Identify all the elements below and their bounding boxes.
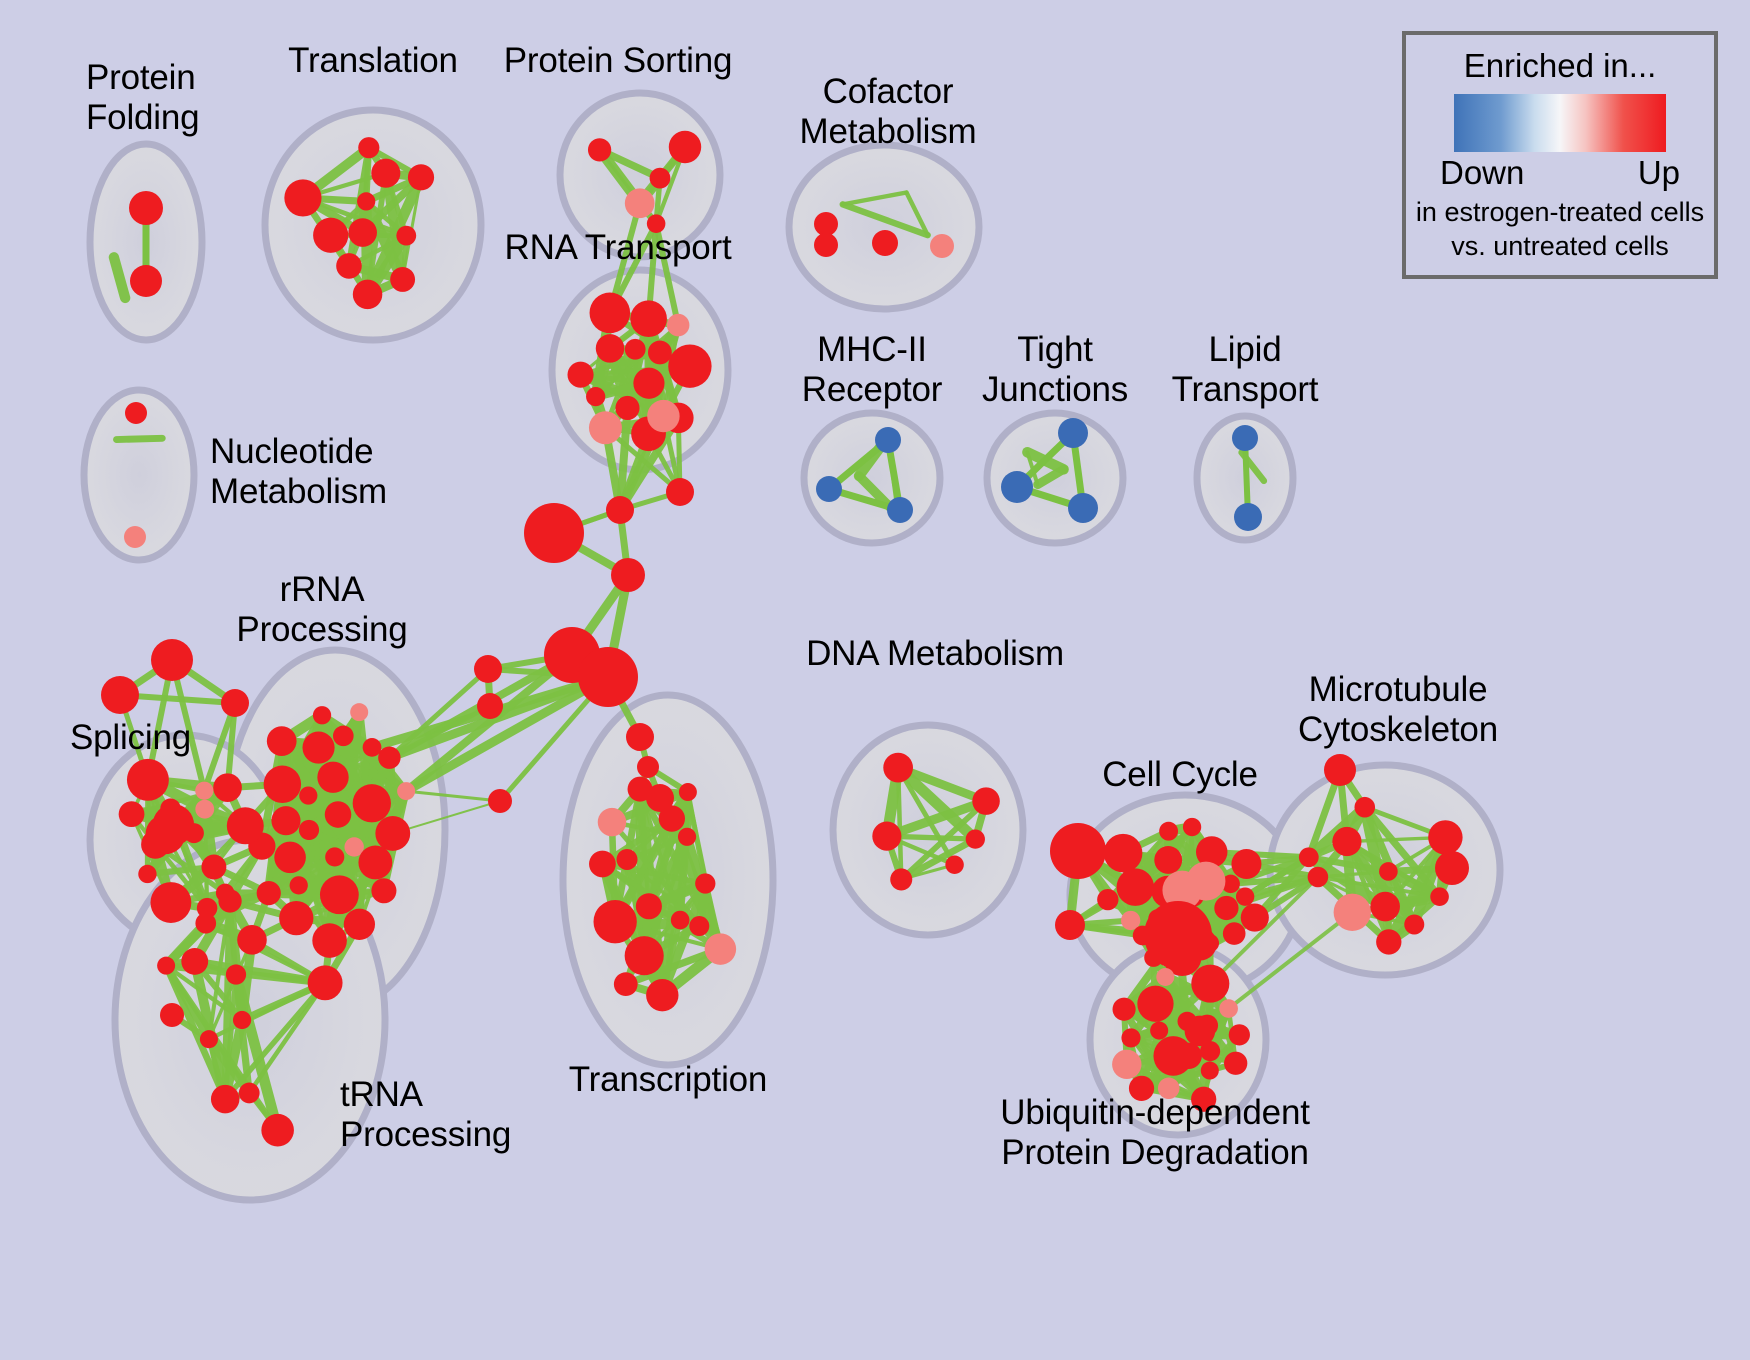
network-node-translation — [390, 267, 415, 292]
network-node-rrna-processing — [371, 878, 396, 903]
network-node-dna-metabolism — [872, 822, 901, 851]
network-node-dna-metabolism — [972, 787, 1000, 815]
network-node-transcription — [689, 916, 709, 936]
network-node-trna-processing — [218, 889, 241, 912]
network-node-trna-processing — [226, 964, 246, 984]
network-node-trna-processing — [261, 1114, 294, 1147]
network-node-rrna-processing — [320, 875, 359, 914]
network-node-trna-processing — [239, 1083, 260, 1104]
network-node-cell-cycle — [1183, 818, 1201, 836]
legend-up-label: Up — [1638, 154, 1680, 192]
cluster-label-ubiquitin-degradation: Ubiquitin-dependent Protein Degradation — [1000, 1093, 1310, 1173]
network-node-splicing — [213, 773, 242, 802]
network-node-trna-processing — [211, 1085, 239, 1113]
network-node-cell-cycle — [1241, 904, 1269, 932]
network-node-translation — [336, 253, 362, 279]
network-node-spl-b — [101, 676, 139, 714]
network-node-rna-transport — [633, 368, 664, 399]
network-node-ubiquitin-degradation — [1112, 1050, 1141, 1079]
network-node-trna-processing — [308, 965, 343, 1000]
network-node-cell-cycle — [1097, 889, 1118, 910]
network-node-rrna-processing — [290, 876, 308, 894]
cluster-hull-dna-metabolism — [833, 725, 1023, 935]
network-node-ubiquitin-degradation — [1229, 1024, 1250, 1045]
network-node-trna-processing — [200, 1030, 218, 1048]
network-node-cofactor-metabolism — [930, 234, 954, 258]
network-node-trna-processing — [233, 1011, 251, 1029]
network-figure: Protein FoldingTranslationProtein Sortin… — [0, 0, 1750, 1360]
network-node-rrna-processing — [363, 738, 382, 757]
network-node-rrna-processing — [378, 746, 400, 768]
network-node-rrna-processing — [353, 784, 391, 822]
network-node-cell-cycle — [1214, 896, 1238, 920]
cluster-label-dna-metabolism: DNA Metabolism — [806, 634, 1064, 674]
network-node-rrna-processing — [358, 846, 392, 880]
cluster-label-splicing: Splicing — [70, 718, 191, 758]
network-node-transcription — [594, 900, 637, 943]
network-node-cell-cycle — [1236, 887, 1254, 905]
network-node-splicing — [138, 865, 156, 883]
network-node-ubiquitin-degradation — [1219, 999, 1238, 1018]
network-node-splicing — [227, 807, 264, 844]
legend-box: Enriched in... Down Up in estrogen-treat… — [1402, 31, 1718, 279]
network-node-rna-transport — [586, 387, 605, 406]
legend-down-label: Down — [1440, 154, 1524, 192]
network-node-ubiquitin-degradation — [1156, 968, 1174, 986]
network-edge — [898, 768, 901, 880]
cluster-label-rrna-processing: rRNA Processing — [236, 570, 407, 650]
network-node-rrna-processing — [299, 786, 317, 804]
network-node-rna-transport — [647, 400, 679, 432]
network-node-spl-a — [151, 639, 193, 681]
network-node-dna-metabolism — [890, 868, 912, 890]
network-node-ubiquitin-degradation — [1185, 1016, 1216, 1047]
network-node-rrna-processing — [264, 766, 301, 803]
network-node-transcription — [617, 849, 638, 870]
cluster-label-rna-transport: RNA Transport — [505, 228, 732, 268]
network-node-transcription — [589, 851, 616, 878]
network-node-microtubule-cytoskeleton — [1404, 914, 1424, 934]
network-node-protein-folding — [129, 191, 163, 225]
network-node-ubiquitin-degradation — [1176, 1043, 1202, 1069]
network-node-transcription — [646, 979, 678, 1011]
network-node-mt-hi — [1324, 754, 1356, 786]
network-node-rrna-processing — [375, 816, 410, 851]
network-node-cc-l — [1050, 823, 1106, 879]
network-node-microtubule-cytoskeleton — [1334, 894, 1371, 931]
network-node-mhc-ii-receptor — [875, 427, 901, 453]
network-node-microtubule-cytoskeleton — [1332, 827, 1361, 856]
cluster-label-cell-cycle: Cell Cycle — [1102, 755, 1258, 795]
network-node-mhc-ii-receptor — [816, 476, 842, 502]
cluster-label-mhc-ii-receptor: MHC-II Receptor — [802, 330, 942, 410]
network-node-hub-1 — [606, 496, 634, 524]
network-node-rna-transport — [567, 362, 593, 388]
network-node-rna-transport — [590, 293, 631, 334]
network-node-microtubule-cytoskeleton — [1430, 887, 1449, 906]
network-node-microtubule-cytoskeleton — [1370, 892, 1400, 922]
cluster-label-protein-folding: Protein Folding — [86, 58, 199, 138]
network-node-protein-sorting — [650, 168, 671, 189]
network-node-tight-junctions — [1068, 493, 1098, 523]
network-node-rrna-processing — [344, 909, 375, 940]
network-node-hub-4 — [611, 558, 645, 592]
legend-title: Enriched in... — [1406, 47, 1714, 85]
network-node-ubiquitin-degradation — [1121, 1028, 1140, 1047]
network-node-cell-cycle — [1159, 822, 1178, 841]
network-node-rna-transport — [596, 334, 625, 363]
network-node-transcription — [671, 911, 690, 930]
network-node-rrna-processing — [313, 706, 331, 724]
network-node-splicing — [195, 800, 214, 819]
network-node-splicing — [201, 855, 226, 880]
legend-endpoints: Down Up — [1442, 154, 1678, 194]
network-node-cell-cycle — [1231, 849, 1261, 879]
network-node-tight-junctions — [1058, 418, 1088, 448]
network-node-protein-sorting — [669, 131, 701, 163]
network-node-hub-10 — [637, 756, 659, 778]
cluster-label-protein-sorting: Protein Sorting — [504, 41, 733, 81]
network-node-rrna-processing — [271, 806, 300, 835]
network-node-splicing — [146, 814, 186, 854]
network-node-transcription — [678, 828, 696, 846]
network-node-tr-out — [160, 1003, 184, 1027]
network-node-cc-l2 — [1055, 910, 1085, 940]
network-node-rrna-processing — [397, 782, 415, 800]
network-node-translation — [313, 218, 348, 253]
network-node-protein-folding — [130, 265, 162, 297]
network-node-lipid-transport — [1234, 503, 1262, 531]
network-node-hub-11 — [646, 784, 674, 812]
cluster-label-tight-junctions: Tight Junctions — [982, 330, 1128, 410]
network-node-transcription — [705, 933, 737, 965]
network-node-splicing — [119, 801, 145, 827]
network-node-translation — [371, 159, 400, 188]
network-node-tight-junctions — [1001, 471, 1033, 503]
network-node-spl-c — [221, 689, 249, 717]
network-node-microtubule-cytoskeleton — [1376, 929, 1401, 954]
network-node-rrna-processing — [317, 762, 348, 793]
network-node-transcription — [695, 873, 715, 893]
network-node-cell-cycle — [1186, 862, 1225, 901]
network-node-hub-12 — [488, 789, 512, 813]
cluster-label-microtubule-cytoskeleton: Microtubule Cytoskeleton — [1298, 670, 1498, 750]
network-node-trna-processing — [157, 957, 175, 975]
legend-colorbar — [1454, 94, 1666, 152]
network-node-trna-processing — [195, 913, 216, 934]
network-node-dna-metabolism — [883, 753, 913, 783]
network-node-rrna-processing — [267, 726, 297, 756]
network-node-rrna-processing — [274, 842, 306, 874]
network-node-cofactor-metabolism — [814, 212, 838, 236]
network-node-dna-metabolism — [945, 856, 963, 874]
network-node-rrna-processing — [299, 820, 319, 840]
network-node-hub-6 — [578, 647, 638, 707]
network-node-rrna-processing — [257, 881, 281, 905]
network-node-transcription — [636, 893, 662, 919]
network-node-rrna-processing — [325, 801, 352, 828]
network-node-translation — [408, 164, 434, 190]
network-node-cell-cycle — [1117, 868, 1155, 906]
network-node-rna-transport — [630, 300, 667, 337]
network-node-transcription — [679, 783, 697, 801]
network-node-translation — [348, 218, 377, 247]
network-node-protein-sorting — [588, 138, 611, 161]
network-edge — [116, 438, 162, 439]
network-node-translation — [353, 280, 383, 310]
network-node-rna-transport — [625, 339, 646, 360]
cluster-label-trna-processing: tRNA Processing — [340, 1075, 511, 1155]
network-node-microtubule-cytoskeleton — [1379, 862, 1398, 881]
cluster-label-lipid-transport: Lipid Transport — [1172, 330, 1319, 410]
cluster-label-cofactor-metabolism: Cofactor Metabolism — [800, 72, 977, 152]
cluster-label-translation: Translation — [288, 41, 458, 81]
network-node-rna-transport — [615, 396, 639, 420]
network-node-microtubule-cytoskeleton — [1428, 820, 1462, 854]
network-node-dna-metabolism — [966, 829, 985, 848]
network-node-mt-r — [1435, 851, 1469, 885]
network-node-rna-transport — [668, 344, 711, 387]
legend-caption-line1: in estrogen-treated cells — [1406, 197, 1714, 228]
network-node-rna-transport — [648, 341, 672, 365]
network-node-splicing — [195, 782, 213, 800]
network-node-cofactor-metabolism — [814, 233, 838, 257]
network-node-nucleotide-metabolism — [125, 402, 147, 424]
network-node-translation — [284, 179, 321, 216]
cluster-label-transcription: Transcription — [569, 1060, 767, 1100]
network-node-protein-sorting — [625, 188, 655, 218]
network-node-translation — [357, 192, 375, 210]
network-node-mhc-ii-receptor — [887, 497, 913, 523]
network-node-cc-b — [1144, 901, 1212, 969]
network-node-microtubule-cytoskeleton — [1308, 867, 1329, 888]
network-node-cell-cycle — [1223, 922, 1246, 945]
network-node-transcription — [598, 808, 626, 836]
network-node-hub-2 — [666, 478, 694, 506]
network-node-microtubule-cytoskeleton — [1299, 847, 1319, 867]
network-node-rrna-processing — [325, 847, 344, 866]
network-node-nucleotide-metabolism — [124, 526, 146, 548]
network-node-translation — [396, 226, 416, 246]
legend-caption-line2: vs. untreated cells — [1406, 231, 1714, 262]
network-node-rrna-processing — [312, 923, 347, 958]
network-node-splicing — [127, 759, 169, 801]
cluster-label-nucleotide-metabolism: Nucleotide Metabolism — [210, 432, 387, 512]
network-node-ubiquitin-degradation — [1201, 1062, 1219, 1080]
network-node-rrna-processing — [302, 732, 334, 764]
network-node-hub-3 — [524, 503, 584, 563]
network-node-trna-processing — [181, 948, 208, 975]
network-node-rna-transport — [667, 314, 690, 337]
network-node-microtubule-cytoskeleton — [1354, 797, 1375, 818]
network-node-hub-9 — [626, 723, 654, 751]
network-node-cell-cycle — [1104, 834, 1143, 873]
network-node-splicing — [150, 882, 191, 923]
network-node-rrna-processing — [333, 726, 354, 747]
network-node-transcription — [625, 936, 664, 975]
network-node-cofactor-metabolism — [872, 230, 898, 256]
network-node-ubiquitin-degradation — [1191, 965, 1229, 1003]
network-node-hub-7 — [474, 655, 502, 683]
network-node-rrna-processing — [350, 703, 368, 721]
network-node-ubiquitin-degradation — [1137, 986, 1173, 1022]
network-node-ubiquitin-degradation — [1150, 1022, 1168, 1040]
network-node-rna-transport — [589, 411, 622, 444]
network-node-ubiquitin-degradation — [1113, 998, 1136, 1021]
network-node-rrna-processing — [279, 901, 313, 935]
network-node-transcription — [614, 972, 638, 996]
network-node-lipid-transport — [1232, 425, 1258, 451]
network-node-translation — [358, 137, 379, 158]
network-node-hub-8 — [477, 693, 503, 719]
network-node-ubiquitin-degradation — [1224, 1052, 1247, 1075]
network-node-cell-cycle — [1154, 846, 1182, 874]
network-node-trna-processing — [237, 925, 267, 955]
